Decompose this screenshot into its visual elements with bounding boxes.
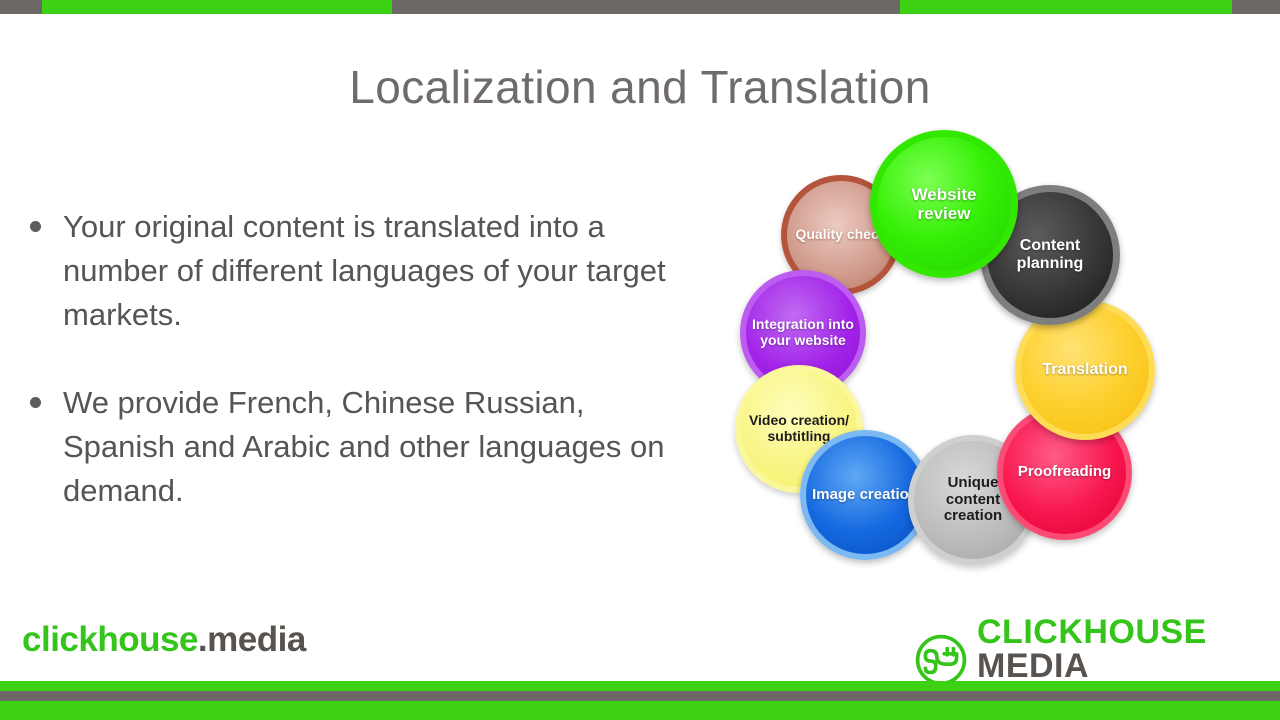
bottom-decor-bar-green-bottom (0, 701, 1280, 720)
diagram-node-label: Translation (1036, 361, 1133, 379)
footer-logo-word-media: MEDIA (977, 647, 1089, 685)
list-item: We provide French, Chinese Russian, Span… (30, 381, 690, 513)
bottom-decor-bar-green-top (0, 681, 1280, 691)
diagram-node-website-review: Website review (870, 130, 1018, 278)
top-decor-segment-right (900, 0, 1232, 14)
top-decor-segment-left (42, 0, 392, 14)
footer-wordmark: clickhouse.media (22, 620, 306, 660)
bottom-decor-bar-gray (0, 691, 1280, 701)
diagram-node-label: Image creation (806, 487, 924, 504)
diagram-node-label: Website review (877, 185, 1011, 223)
workflow-circle-diagram: Website review Content planning Translat… (715, 125, 1175, 585)
diagram-node-label: Integration into your website (746, 317, 860, 348)
bullet-dot-icon (30, 397, 41, 408)
bullet-text: Your original content is translated into… (63, 205, 690, 337)
top-decor-bar (0, 0, 1280, 14)
footer-logo-word-clickhouse: CLICKHOUSE (977, 613, 1207, 651)
presentation-slide: Localization and Translation Your origin… (0, 0, 1280, 720)
slide-title: Localization and Translation (0, 60, 1280, 114)
list-item: Your original content is translated into… (30, 205, 690, 337)
clickhouse-plug-logo-icon (915, 634, 967, 686)
diagram-node-label: Proofreading (1012, 464, 1117, 481)
bullet-dot-icon (30, 221, 41, 232)
bullet-list: Your original content is translated into… (30, 205, 690, 557)
footer-wordmark-name: clickhouse (22, 620, 198, 659)
footer-logo-title: CLICKHOUSE MEDIA (977, 615, 1280, 683)
footer-wordmark-tld: .media (198, 620, 306, 659)
bullet-text: We provide French, Chinese Russian, Span… (63, 381, 690, 513)
